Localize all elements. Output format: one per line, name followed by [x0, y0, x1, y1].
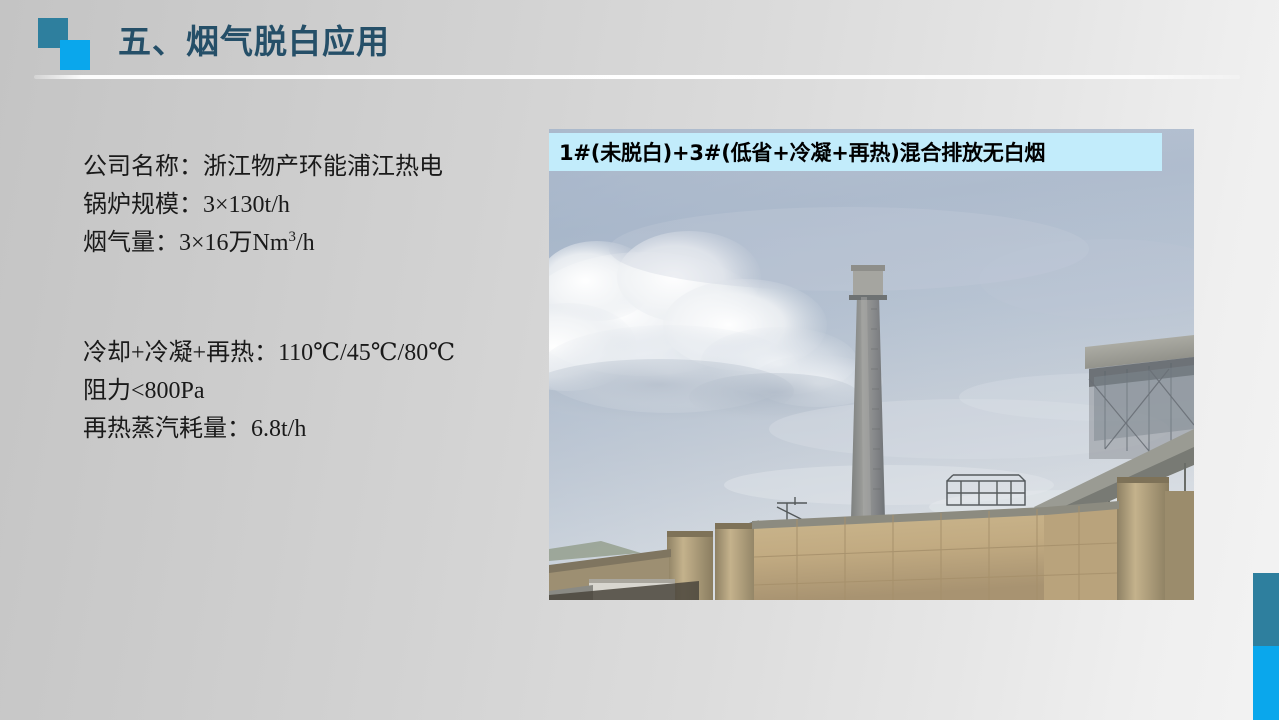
decor-square-bright: [60, 40, 90, 70]
plant-photo-image: [549, 129, 1194, 600]
info-block-company: 公司名称：浙江物产环能浦江热电 锅炉规模：3×130t/h 烟气量：3×16万N…: [83, 148, 443, 262]
slide-root: 五、烟气脱白应用 公司名称：浙江物产环能浦江热电 锅炉规模：3×130t/h 烟…: [0, 0, 1279, 720]
accent-block-teal: [1253, 573, 1279, 646]
info-line-company-name: 公司名称：浙江物产环能浦江热电: [83, 148, 443, 186]
info-line-reheat-steam: 再热蒸汽耗量：6.8t/h: [83, 410, 455, 448]
title-divider: [34, 75, 1240, 79]
accent-block-blue: [1253, 646, 1279, 720]
info-line-boiler-scale: 锅炉规模：3×130t/h: [83, 186, 443, 224]
page-title: 五、烟气脱白应用: [118, 20, 390, 64]
info-block-process: 冷却+冷凝+再热：110℃/45℃/80℃ 阻力<800Pa 再热蒸汽耗量：6.…: [83, 334, 455, 448]
info-line-cool-condense-reheat: 冷却+冷凝+再热：110℃/45℃/80℃: [83, 334, 455, 372]
plant-photo: [549, 129, 1194, 600]
info-line-resistance: 阻力<800Pa: [83, 372, 455, 410]
info-line-flue-gas-volume: 烟气量：3×16万Nm3/h: [83, 224, 443, 262]
photo-caption: 1#(未脱白)+3#(低省+冷凝+再热)混合排放无白烟: [549, 133, 1162, 171]
